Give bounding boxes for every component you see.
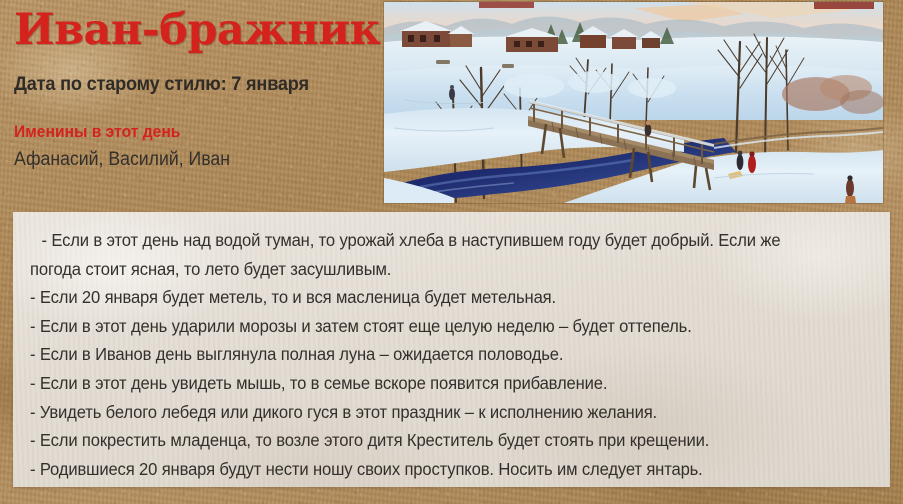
list-item: - Увидеть белого лебедя или дикого гуся … [30,398,835,427]
omens-list: - Если в этот день над водой туман, то у… [30,226,873,483]
old-style-date-label: Дата по старому стилю: 7 января [14,73,349,96]
header-block: Иван-бражник Дата по старому стилю: 7 ян… [14,8,374,172]
list-item: - Родившиеся 20 января будут нести ношу … [30,455,835,484]
list-item: - Если в Иванов день выглянула полная лу… [30,340,835,369]
painting-artwork [384,2,883,203]
winter-landscape-painting [384,2,883,203]
page-title: Иван-бражник [14,8,374,54]
poster-canvas: Иван-бражник Дата по старому стилю: 7 ян… [0,0,903,504]
list-item: - Если в этот день над водой туман, то у… [30,226,835,283]
list-item: - Если 20 января будет метель, то и вся … [30,283,835,312]
list-item: - Если в этот день увидеть мышь, то в се… [30,369,835,398]
list-item: - Если в этот день ударили морозы и зате… [30,312,835,341]
list-item: - Если покрестить младенца, то возле это… [30,426,835,455]
nameday-names: Афанасий, Василий, Иван [14,149,349,172]
nameday-heading: Именины в этот день [14,122,345,142]
omens-panel: - Если в этот день над водой туман, то у… [13,212,890,487]
